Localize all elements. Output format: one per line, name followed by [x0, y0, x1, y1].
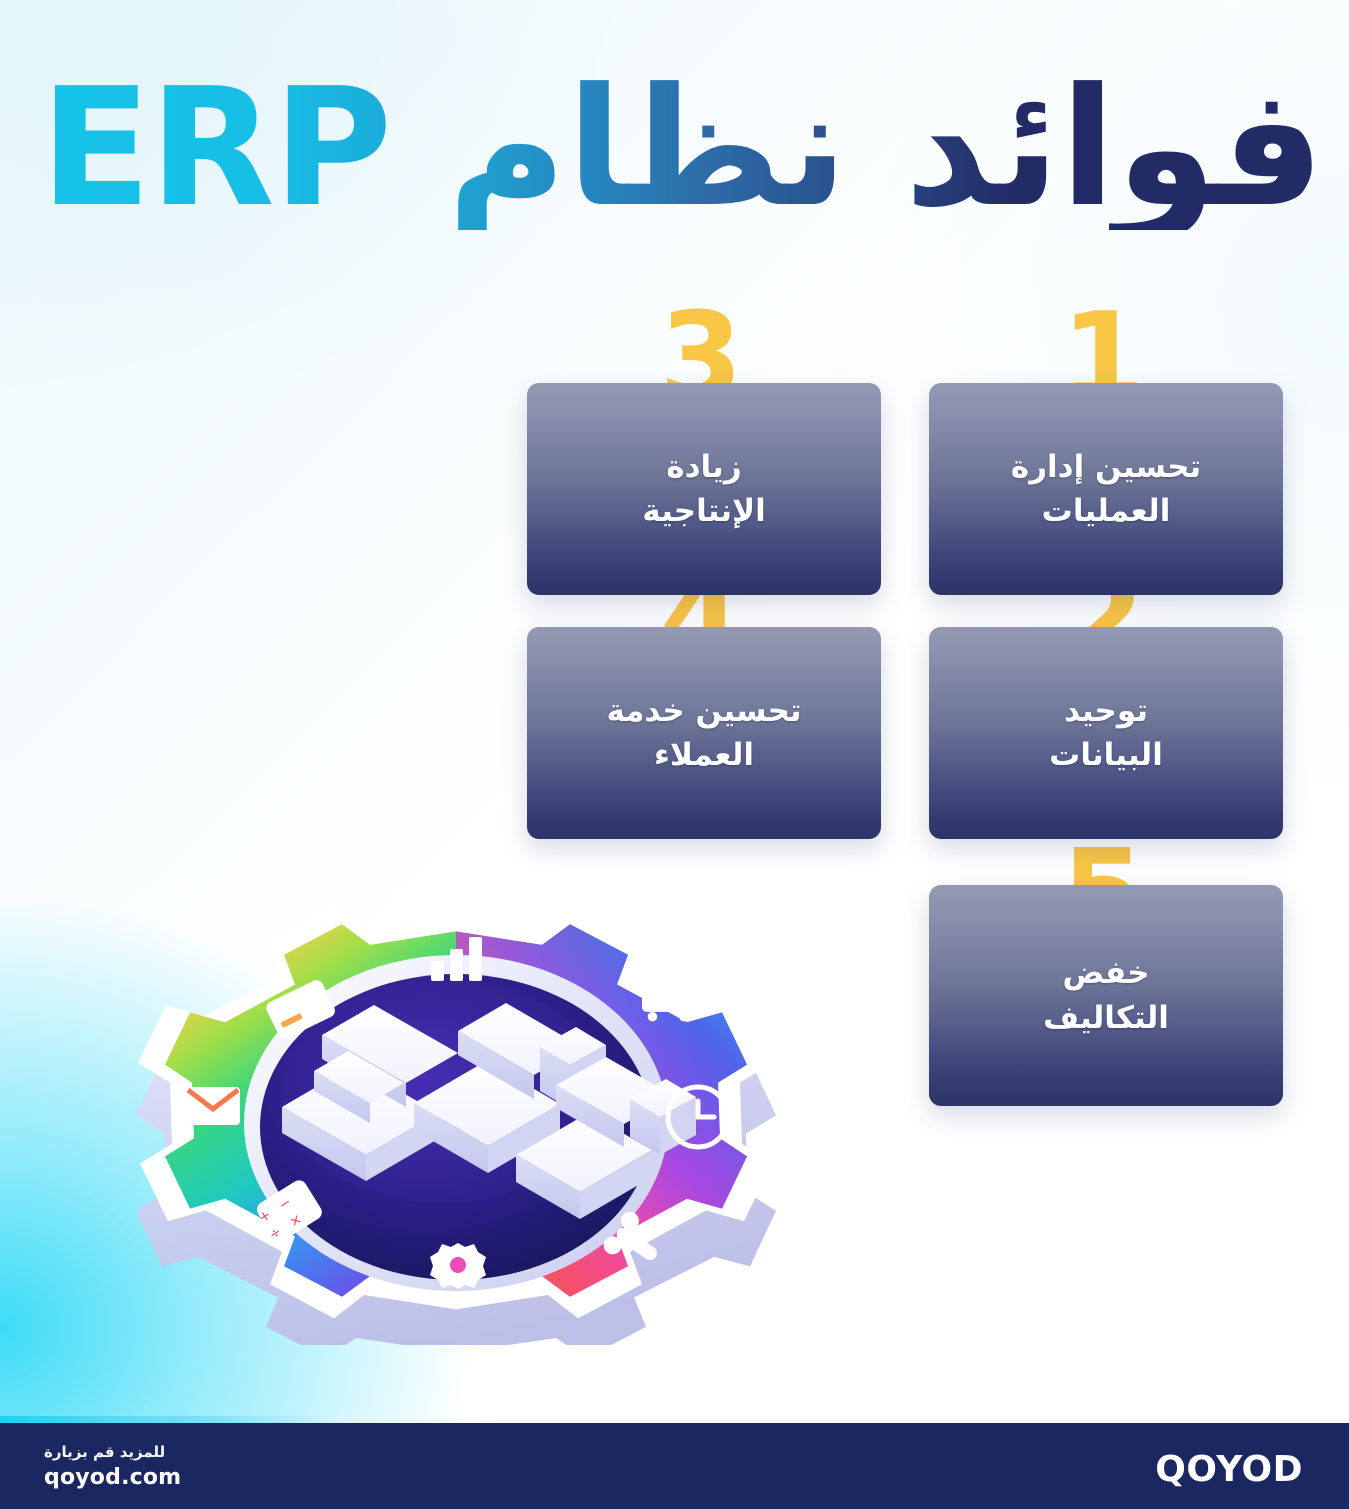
benefit-card-1-label: تحسين إدارة العمليات: [985, 445, 1227, 533]
footer-bar: للمزيد قم بزيارة qoyod.com QOYOD: [0, 1423, 1349, 1509]
footer-accent-bar: [0, 1416, 1349, 1423]
benefit-card-2[interactable]: توحيد البيانات: [929, 627, 1283, 839]
footer-cta-line: للمزيد قم بزيارة: [44, 1441, 181, 1464]
footer-website[interactable]: qoyod.com: [44, 1464, 181, 1492]
page-title: فوائد نظام ERP: [40, 67, 1325, 230]
page-title-wrap: فوائد نظام ERP: [40, 48, 1305, 248]
benefit-card-1[interactable]: تحسين إدارة العمليات: [929, 383, 1283, 595]
benefit-card-5-label: خفض التكاليف: [1017, 951, 1195, 1039]
benefit-card-4-label: تحسين خدمة العملاء: [580, 689, 827, 777]
benefit-card-2-label: توحيد البيانات: [1023, 689, 1189, 777]
erp-gear-illustration: + − ÷ ×: [86, 855, 826, 1345]
mail-icon: [186, 1087, 240, 1125]
benefit-card-5[interactable]: خفض التكاليف: [929, 885, 1283, 1106]
qoyod-logo: QOYOD: [1155, 1449, 1303, 1490]
benefit-card-3[interactable]: زيادة الإنتاجية: [527, 383, 881, 595]
benefit-card-4[interactable]: تحسين خدمة العملاء: [527, 627, 881, 839]
benefit-card-3-label: زيادة الإنتاجية: [616, 445, 791, 533]
infographic-poster: فوائد نظام ERP: [0, 0, 1349, 1509]
footer-cta: للمزيد قم بزيارة qoyod.com: [44, 1441, 181, 1491]
